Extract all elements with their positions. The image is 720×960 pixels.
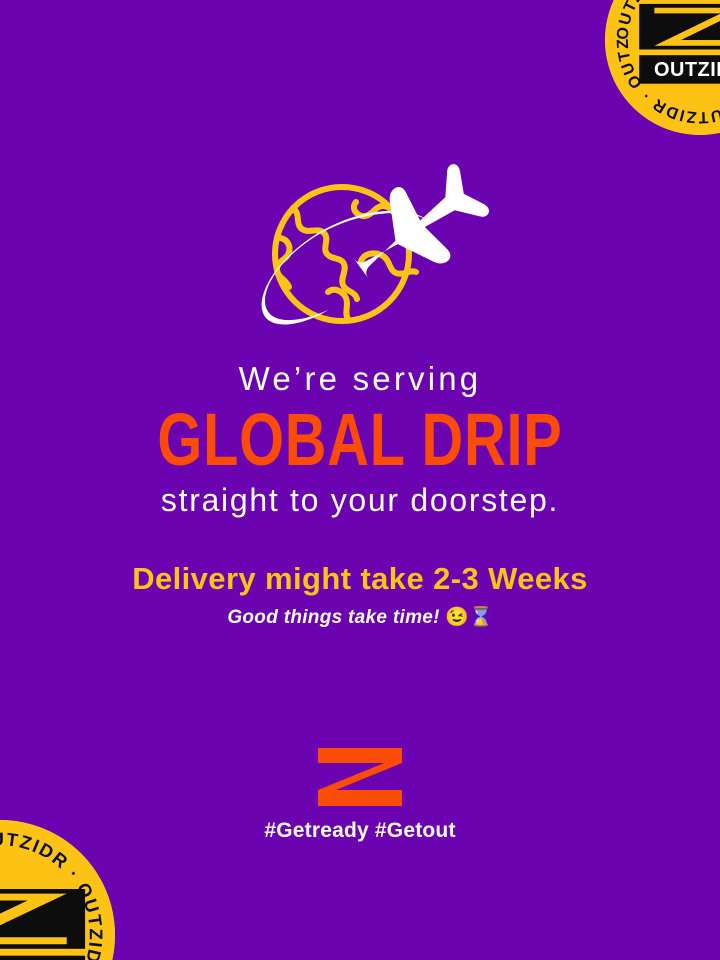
svg-text:OUTZIDR: OUTZIDR: [654, 59, 720, 81]
tagline-text: Good things take time!: [227, 607, 439, 628]
hashtags-text: #Getready #Getout: [0, 820, 720, 841]
globe-airplane-emblem: [232, 172, 488, 348]
airplane-icon: [335, 151, 500, 305]
z-monogram-logo: [318, 748, 402, 806]
outzidr-stamp-top-right: OUTZIDR · OUTZIDR · OUTZIDR · OUTZIDR · …: [605, 0, 720, 135]
footer-block: #Getready #Getout: [0, 748, 720, 841]
kicker-text: We’re serving: [0, 362, 720, 395]
headline-text: GLOBAL DRIP: [79, 409, 641, 471]
tagline-emoji: 😉⌛: [445, 607, 492, 628]
outzidr-stamp-bottom-left: OUTZIDR · OUTZIDR · OUTZIDR · OUTZIDR · …: [0, 820, 115, 960]
delivery-estimate-text: Delivery might take 2-3 Weeks: [0, 563, 720, 594]
main-copy-block: We’re serving GLOBAL DRIP straight to yo…: [0, 362, 720, 627]
tagline: Good things take time! 😉⌛: [0, 608, 720, 627]
poster-canvas: OUTZIDR · OUTZIDR · OUTZIDR · OUTZIDR · …: [0, 0, 720, 960]
stamp-center-mark-tr: OUTZIDR: [639, 4, 720, 84]
subline-text: straight to your doorstep.: [0, 484, 720, 516]
